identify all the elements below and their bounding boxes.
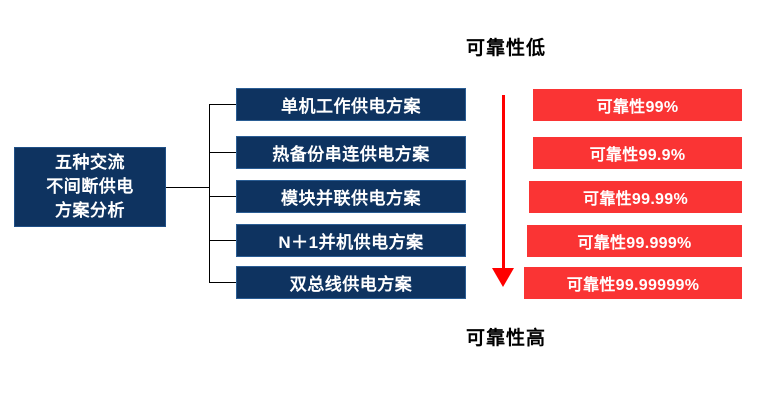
branch-box-3[interactable]: 模块并联供电方案 [236,180,466,213]
reliability-box-3[interactable]: 可靠性99.99% [529,181,742,213]
connector-branch-5 [209,282,236,283]
reliability-arrow-shaft [502,95,505,272]
reliability-box-2[interactable]: 可靠性99.9% [533,137,742,169]
diagram-canvas: 五种交流 不间断供电 方案分析 单机工作供电方案 热备份串连供电方案 模块并联供… [0,0,779,406]
branch-box-1[interactable]: 单机工作供电方案 [236,88,466,121]
connector-branch-2 [209,152,236,153]
branch-box-4[interactable]: N＋1并机供电方案 [236,224,466,257]
branch-box-2[interactable]: 热备份串连供电方案 [236,136,466,169]
connector-branch-1 [209,104,236,105]
reliability-arrow-head [492,268,514,287]
reliability-box-5[interactable]: 可靠性99.99999% [524,267,742,299]
connector-spine [209,104,210,282]
reliability-box-4[interactable]: 可靠性99.999% [527,225,742,257]
root-node-line-1: 五种交流 [55,151,125,175]
reliability-low-label: 可靠性低 [466,33,546,60]
connector-branch-3 [209,196,236,197]
root-node-line-2: 不间断供电 [46,175,134,199]
reliability-box-1[interactable]: 可靠性99% [533,89,742,121]
root-node-line-3: 方案分析 [55,199,125,223]
root-node: 五种交流 不间断供电 方案分析 [14,147,166,227]
reliability-high-label: 可靠性高 [466,323,546,350]
connector-root-stub [166,187,209,188]
branch-box-5[interactable]: 双总线供电方案 [236,266,466,299]
connector-branch-4 [209,240,236,241]
